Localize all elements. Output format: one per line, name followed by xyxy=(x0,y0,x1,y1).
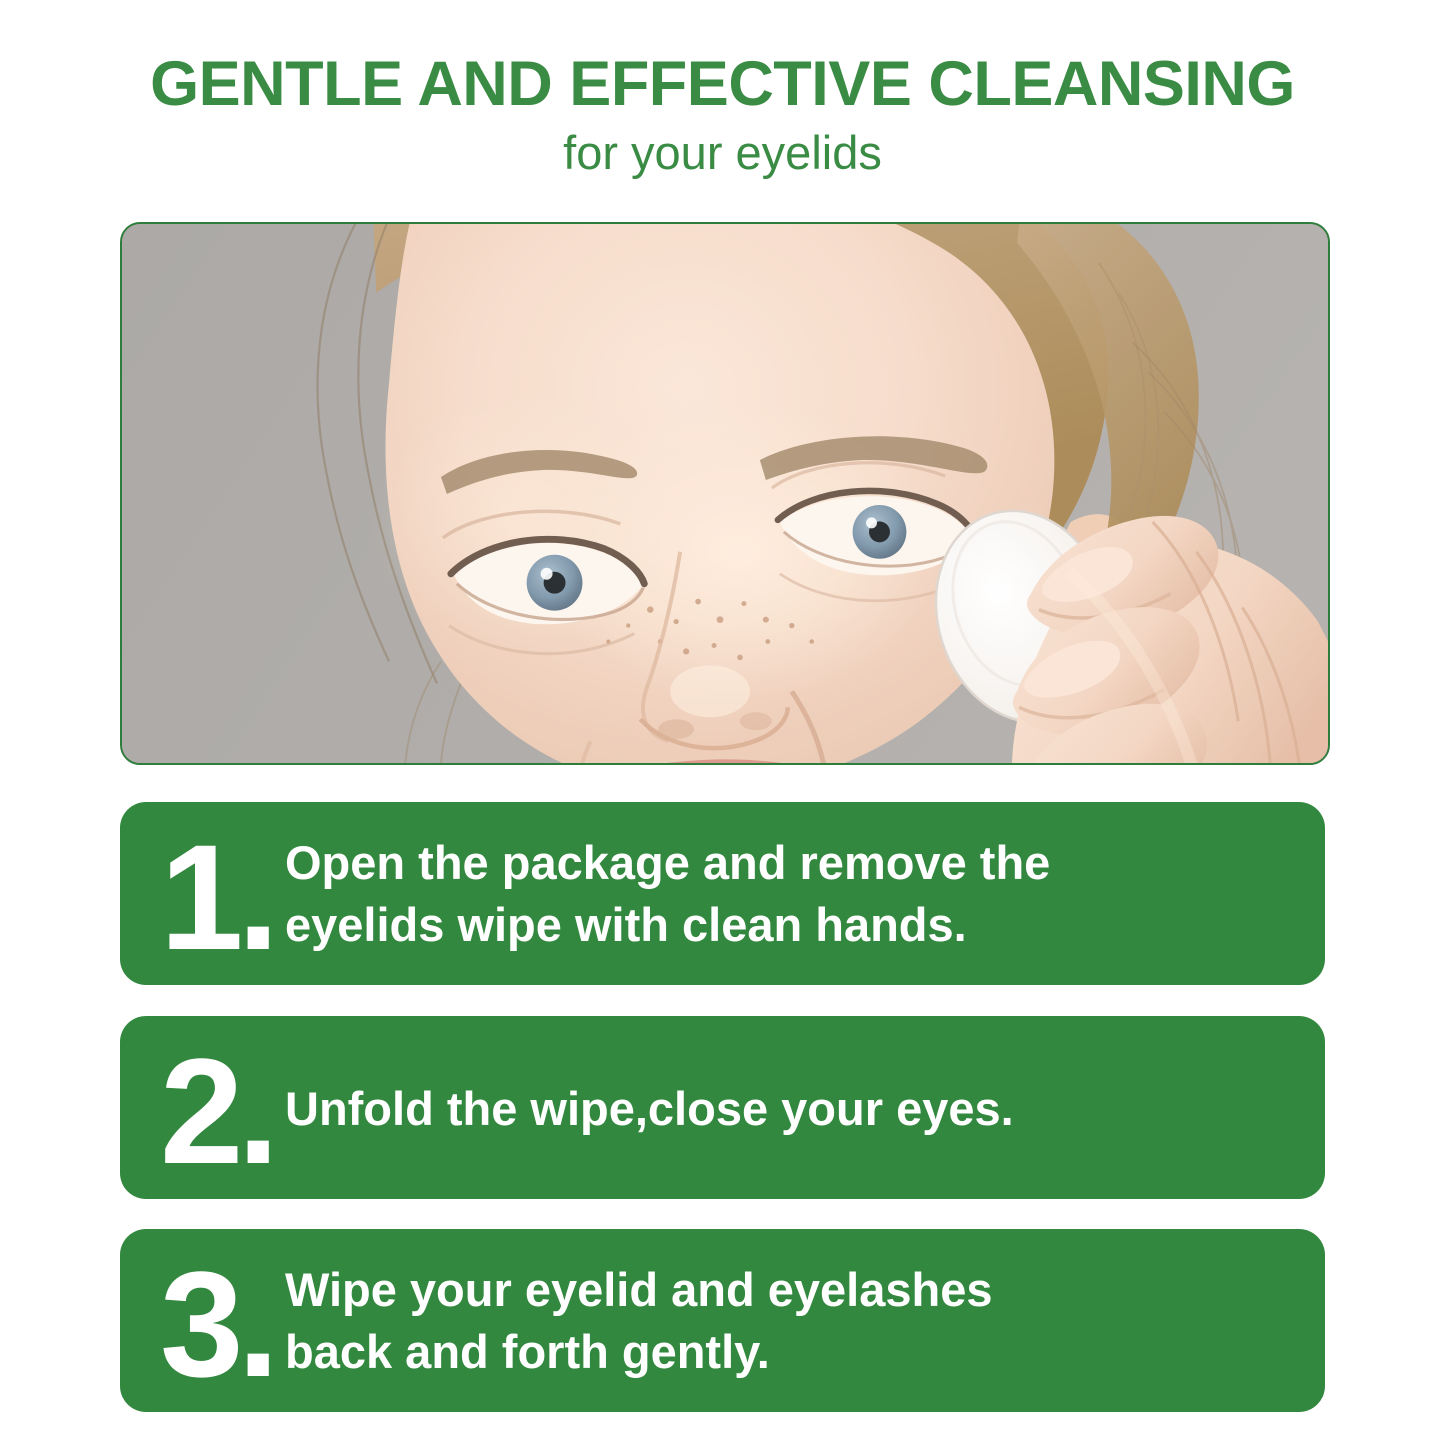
instruction-step-3: 3. Wipe your eyelid and eyelashes back a… xyxy=(120,1229,1325,1412)
instruction-step-1: 1. Open the package and remove the eyeli… xyxy=(120,802,1325,985)
instruction-step-2: 2. Unfold the wipe,close your eyes. xyxy=(120,1016,1325,1199)
page-subtitle: for your eyelids xyxy=(0,116,1445,177)
step-3-text: Wipe your eyelid and eyelashes back and … xyxy=(285,1259,1325,1381)
hero-photo-illustration xyxy=(122,224,1328,763)
step-1-number: 1. xyxy=(120,836,285,959)
page-header: GENTLE AND EFFECTIVE CLEANSING for your … xyxy=(0,0,1445,178)
page-title: GENTLE AND EFFECTIVE CLEANSING xyxy=(0,0,1445,116)
hero-photo xyxy=(120,222,1330,765)
step-1-text: Open the package and remove the eyelids … xyxy=(285,832,1325,954)
step-2-number: 2. xyxy=(120,1050,285,1173)
step-3-number: 3. xyxy=(120,1263,285,1386)
step-2-text: Unfold the wipe,close your eyes. xyxy=(285,1076,1325,1139)
